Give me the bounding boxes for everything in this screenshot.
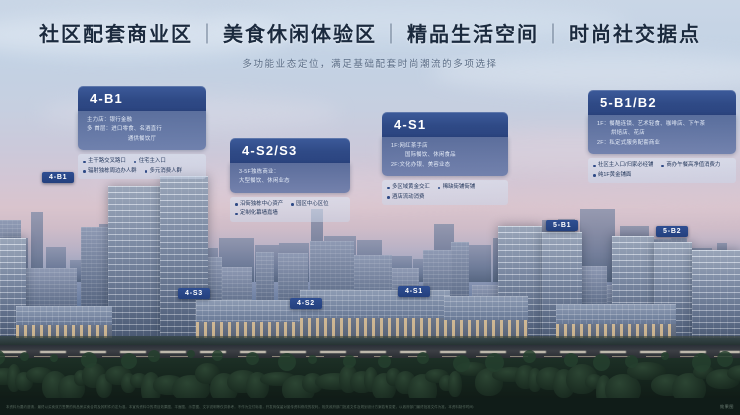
building-tag-4-s3[interactable]: 4-S3 (178, 288, 210, 299)
tree-roadside (148, 350, 160, 362)
list-item: 辐射独栋周边办人群 (83, 167, 137, 177)
page-title: 社区配套商业区｜美食休闲体验区｜精品生活空间｜时尚社交据点 (0, 18, 740, 47)
info-card-line: 1F：餐酷连锁、艺术轻食、咖啡店、下午茶 (597, 120, 727, 129)
bullet-label: 住宅主入口 (139, 157, 166, 167)
title-separator: ｜ (197, 24, 219, 46)
info-card-body: 主力店：银行金融 多 首层：进口零食、名酒直行 通供餐饮厅 (78, 111, 206, 150)
info-card-line: 国际餐饮、休闲食品 (391, 151, 499, 160)
tree-roadside (50, 354, 58, 362)
title-segment: 社区配套商业区 (39, 24, 193, 46)
list-item: 纯1F黄金铺面 (593, 171, 631, 181)
bullet-dot-icon (593, 174, 596, 177)
title-segment: 精品生活空间 (407, 24, 539, 46)
info-card-4-s1[interactable]: 4-S1 1F:网红茶手店 国际餐饮、休闲食品 2F:文化办银、美容业态 多区域… (382, 112, 508, 205)
tree-roadside (453, 355, 470, 372)
footer-disclaimer-bar: 本资料为要约邀请，最终以买卖双方签署的商品房买卖合同及其附件约定为准。本宣传资料… (0, 398, 740, 415)
info-card-title: 5-B1/B2 (588, 90, 736, 115)
building-tag-4-b1[interactable]: 4-B1 (42, 172, 74, 183)
tree-roadside (278, 353, 296, 371)
tree (448, 371, 462, 397)
info-card-body: 1F：餐酷连锁、艺术轻食、咖啡店、下午茶 烘焙店、花店 2F：私定式服务配套商业 (588, 115, 736, 154)
info-card-line: 多 首层：进口零食、名酒直行 (87, 125, 197, 134)
tree-roadside (717, 351, 733, 367)
page-subtitle: 多功能业态定位，满足基础配套时尚潮流的多项选择 (0, 56, 740, 70)
info-card-title: 4-S1 (382, 112, 508, 137)
info-card-bullets: 多区域黄金交汇 稀缺街铺街铺 酒店流动消费 (382, 180, 508, 205)
info-card-line: 2F：私定式服务配套商业 (597, 139, 727, 148)
info-card-body: 3-5F独栋商业： 大型餐饮、休闲业态 (230, 163, 350, 193)
bullet-label: 商办午餐高净值消费力 (666, 161, 720, 171)
list-item: 住宅主入口 (134, 157, 166, 167)
tree-roadside (661, 352, 669, 360)
bullet-dot-icon (83, 170, 86, 173)
info-card-bullets: 沿街独栋中心资产 园区中心区位 定制化幕墙嘉墙 (230, 197, 350, 222)
bullet-label: 多元消费人群 (150, 167, 182, 177)
info-card-line: 2F:文化办银、美容业态 (391, 161, 499, 170)
tree-roadside (593, 354, 610, 371)
list-item: 沿街独栋中心资产 (235, 200, 283, 210)
bullet-dot-icon (235, 203, 238, 206)
list-item: 社区主入口/归家必经铺 (593, 161, 653, 171)
building-tag-5-b2[interactable]: 5-B2 (656, 226, 688, 237)
tree-roadside (343, 355, 356, 368)
podium-retail-far-right (556, 304, 676, 338)
bullet-label: 园区中心区位 (296, 200, 328, 210)
bullet-dot-icon (661, 165, 664, 168)
tree-roadside (212, 350, 223, 361)
footer-page-marker: 效果图 (720, 404, 734, 410)
bullet-label: 辐射独栋周边办人群 (88, 167, 137, 177)
bullet-label: 纯1F黄金铺面 (598, 171, 631, 181)
bullet-label: 主干路交叉路口 (88, 157, 126, 167)
treeline (0, 352, 740, 398)
list-item: 园区中心区位 (291, 200, 328, 210)
info-card-bullets: 社区主入口/归家必经铺 商办午餐高净值消费力 纯1F黄金铺面 (588, 158, 736, 183)
list-item: 定制化幕墙嘉墙 (235, 209, 278, 219)
bullet-label: 社区主入口/归家必经铺 (598, 161, 653, 171)
tree-roadside (378, 355, 391, 368)
list-item: 商办午餐高净值消费力 (661, 161, 720, 171)
title-separator: ｜ (381, 24, 403, 46)
podium-retail-far-left (16, 306, 112, 338)
tree-roadside (20, 352, 29, 361)
list-item: 多区域黄金交汇 (387, 183, 430, 193)
tree-roadside (246, 352, 259, 365)
tree-roadside (625, 355, 638, 368)
title-segment: 时尚社交据点 (569, 24, 701, 46)
marketing-slide: 社区配套商业区｜美食休闲体验区｜精品生活空间｜时尚社交据点 多功能业态定位，满足… (0, 0, 740, 415)
tree-roadside (485, 353, 504, 372)
tree-roadside (308, 355, 317, 364)
podium-retail-center (300, 290, 450, 338)
title-separator: ｜ (543, 24, 565, 46)
building-tag-5-b1[interactable]: 5-B1 (546, 220, 578, 231)
list-item: 酒店流动消费 (387, 193, 424, 203)
list-item: 多元消费人群 (145, 167, 182, 177)
info-card-title: 4-B1 (78, 86, 206, 111)
tree-roadside (81, 352, 97, 368)
info-card-4-s2-s3[interactable]: 4-S2/S3 3-5F独栋商业： 大型餐饮、休闲业态 沿街独栋中心资产 园区中… (230, 138, 350, 222)
info-card-5-b1-b2[interactable]: 5-B1/B2 1F：餐酷连锁、艺术轻食、咖啡店、下午茶 烘焙店、花店 2F：私… (588, 90, 736, 183)
list-item: 稀缺街铺街铺 (438, 183, 475, 193)
bullet-label: 多区域黄金交汇 (392, 183, 430, 193)
tree-roadside (0, 350, 5, 365)
building-tag-4-s1[interactable]: 4-S1 (398, 286, 430, 297)
info-card-line: 烘焙店、花店 (597, 129, 727, 138)
info-card-line: 通供餐饮厅 (87, 135, 197, 144)
title-segment: 美食休闲体验区 (223, 24, 377, 46)
tree-roadside (417, 352, 429, 364)
tree-roadside (121, 353, 137, 369)
bullet-dot-icon (387, 187, 390, 190)
tower-far-right (692, 250, 740, 338)
tree-roadside (692, 353, 711, 372)
bullet-dot-icon (593, 165, 596, 168)
disclaimer-text: 本资料为要约邀请，最终以买卖双方签署的商品房买卖合同及其附件约定为准。本宣传资料… (6, 404, 715, 409)
bullet-label: 沿街独栋中心资产 (240, 200, 283, 210)
info-card-4-b1[interactable]: 4-B1 主力店：银行金融 多 首层：进口零食、名酒直行 通供餐饮厅 主干路交叉… (78, 86, 206, 179)
bullet-label: 酒店流动消费 (392, 193, 424, 203)
podium-retail-right (444, 296, 528, 338)
bullet-label: 稀缺街铺街铺 (443, 183, 475, 193)
info-card-body: 1F:网红茶手店 国际餐饮、休闲食品 2F:文化办银、美容业态 (382, 137, 508, 176)
list-item: 主干路交叉路口 (83, 157, 126, 167)
info-card-line: 大型餐饮、休闲业态 (239, 177, 341, 186)
bullet-label: 定制化幕墙嘉墙 (240, 209, 278, 219)
bullet-dot-icon (387, 196, 390, 199)
tower-left-a (108, 186, 160, 336)
info-card-line: 1F:网红茶手店 (391, 142, 499, 151)
tree-roadside (564, 353, 578, 367)
building-tag-4-s2[interactable]: 4-S2 (290, 298, 322, 309)
title-block: 社区配套商业区｜美食休闲体验区｜精品生活空间｜时尚社交据点 多功能业态定位，满足… (0, 18, 740, 70)
info-card-line: 3-5F独栋商业： (239, 168, 341, 177)
bullet-dot-icon (235, 213, 238, 216)
tree-roadside (187, 350, 195, 358)
info-card-bullets: 主干路交叉路口 住宅主入口 辐射独栋周边办人群 多元消费人群 (78, 154, 206, 179)
bullet-dot-icon (134, 161, 137, 164)
info-card-title: 4-S2/S3 (230, 138, 350, 163)
tree-roadside (523, 350, 536, 363)
bullet-dot-icon (145, 170, 148, 173)
info-card-line: 主力店：银行金融 (87, 116, 197, 125)
bullet-dot-icon (83, 161, 86, 164)
bullet-dot-icon (438, 187, 441, 190)
bullet-dot-icon (291, 203, 294, 206)
